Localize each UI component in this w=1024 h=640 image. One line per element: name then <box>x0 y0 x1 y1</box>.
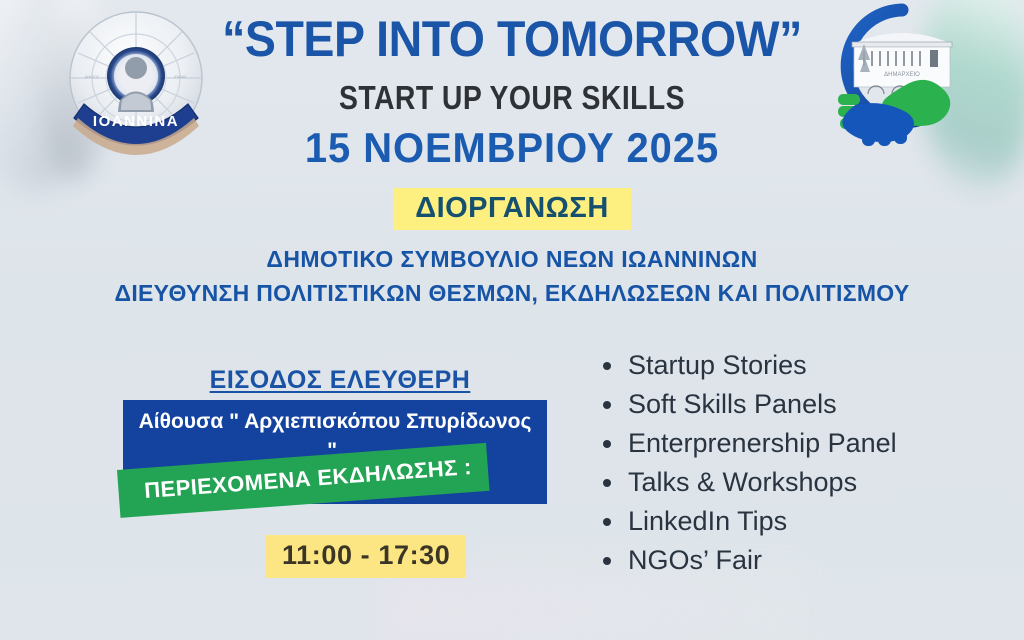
svg-text:ΔΗΜΑΡΧΕΙΟ: ΔΗΜΑΡΧΕΙΟ <box>884 72 920 78</box>
agenda-item-label: Talks & Workshops <box>628 467 857 497</box>
agenda-list: Startup Stories Soft Skills Panels Enter… <box>600 352 897 586</box>
list-item: Enterprenership Panel <box>600 430 897 457</box>
agenda-item-label: LinkedIn Tips <box>628 506 787 536</box>
event-time: 11:00 - 17:30 <box>266 535 466 578</box>
list-item: Talks & Workshops <box>600 469 897 496</box>
bullet-icon <box>603 557 611 565</box>
organiser-badge: ΔΙΟΡΓΑΝΩΣΗ <box>393 188 631 230</box>
organiser-line-2: ΔΙΕΥΘΥΝΣΗ ΠΟΛΙΤΙΣΤΙΚΩΝ ΘΕΣΜΩΝ, ΕΚΔΗΛΩΣΕΩ… <box>0 280 1024 307</box>
agenda-item-label: NGOs’ Fair <box>628 545 762 575</box>
organiser-section: ΔΙΟΡΓΑΝΩΣΗ <box>0 188 1024 230</box>
event-date: 15 ΝΟΕΜΒΡΙΟΥ 2025 <box>26 124 999 172</box>
poster-title: “STEP INTO TOMORROW” <box>36 10 988 68</box>
agenda-item-label: Startup Stories <box>628 350 807 380</box>
agenda-item-label: Soft Skills Panels <box>628 389 837 419</box>
bullet-icon <box>603 362 611 370</box>
list-item: Soft Skills Panels <box>600 391 897 418</box>
list-item: NGOs’ Fair <box>600 547 897 574</box>
poster-subtitle: START UP YOUR SKILLS <box>72 79 953 117</box>
list-item: LinkedIn Tips <box>600 508 897 535</box>
list-item: Startup Stories <box>600 352 897 379</box>
free-entry-heading: ΕΙΣΟΔΟΣ ΕΛΕΥΘΕΡΗ <box>110 366 570 395</box>
agenda-item-label: Enterprenership Panel <box>628 428 897 458</box>
bullet-icon <box>603 440 611 448</box>
bullet-icon <box>603 518 611 526</box>
event-poster: IOANNINA ΔΗΜΟΣ ΙΩΑΝΝ <box>0 0 1024 640</box>
bullet-icon <box>603 479 611 487</box>
organiser-line-1: ΔΗΜΟΤΙΚΟ ΣΥΜΒΟΥΛΙΟ ΝΕΩΝ ΙΩΑΝΝΙΝΩΝ <box>0 246 1024 273</box>
bullet-icon <box>603 401 611 409</box>
